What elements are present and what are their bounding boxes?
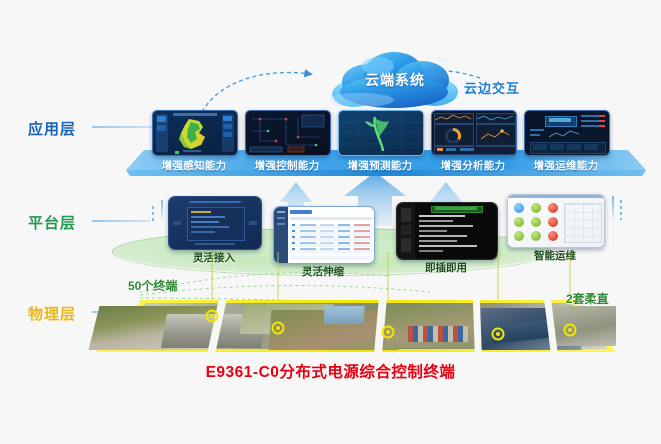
layer-label-platform: 平台层 <box>28 212 76 233</box>
cloud-label: 云端系统 <box>330 70 460 90</box>
app-card-label-2: 增强预测能力 <box>330 158 430 173</box>
platform-device-navy-console[interactable] <box>168 196 262 250</box>
app-screen-control-schematic[interactable] <box>245 110 331 156</box>
platform-device-status-dots[interactable] <box>507 194 605 248</box>
app-card-label-3: 增强分析能力 <box>423 158 523 173</box>
app-card-label-4: 增强运维能力 <box>516 158 616 173</box>
app-card-label-1: 增强控制能力 <box>237 158 337 173</box>
app-screen-ops-monitor-dashboard[interactable] <box>524 110 610 156</box>
platform-right-ticks <box>612 196 628 238</box>
layer-line-application <box>92 126 158 128</box>
app-screen-geo-map-dashboard[interactable] <box>152 110 238 156</box>
layer-line-platform <box>92 220 150 222</box>
layer-label-application: 应用层 <box>28 118 76 139</box>
cloud-system: 制造 云端系统 <box>330 48 460 110</box>
app-screen-analysis-dashboard[interactable] <box>431 110 517 156</box>
physical-left-tag: 50个终端 <box>128 277 177 294</box>
cloud-watermark: 制造 <box>438 57 446 63</box>
physical-right-tag: 2套柔直 <box>566 290 609 307</box>
physical-site-markers <box>56 300 616 362</box>
cloud-edge-interaction-label: 云边交互 <box>464 78 520 97</box>
product-title: E9361-C0分布式电源综合控制终端 <box>0 360 661 382</box>
architecture-diagram: 应用层 平台层 物理层 <box>0 0 661 444</box>
app-card-label-0: 增强感知能力 <box>144 158 244 173</box>
app-screen-prediction-waveform[interactable] <box>338 110 424 156</box>
